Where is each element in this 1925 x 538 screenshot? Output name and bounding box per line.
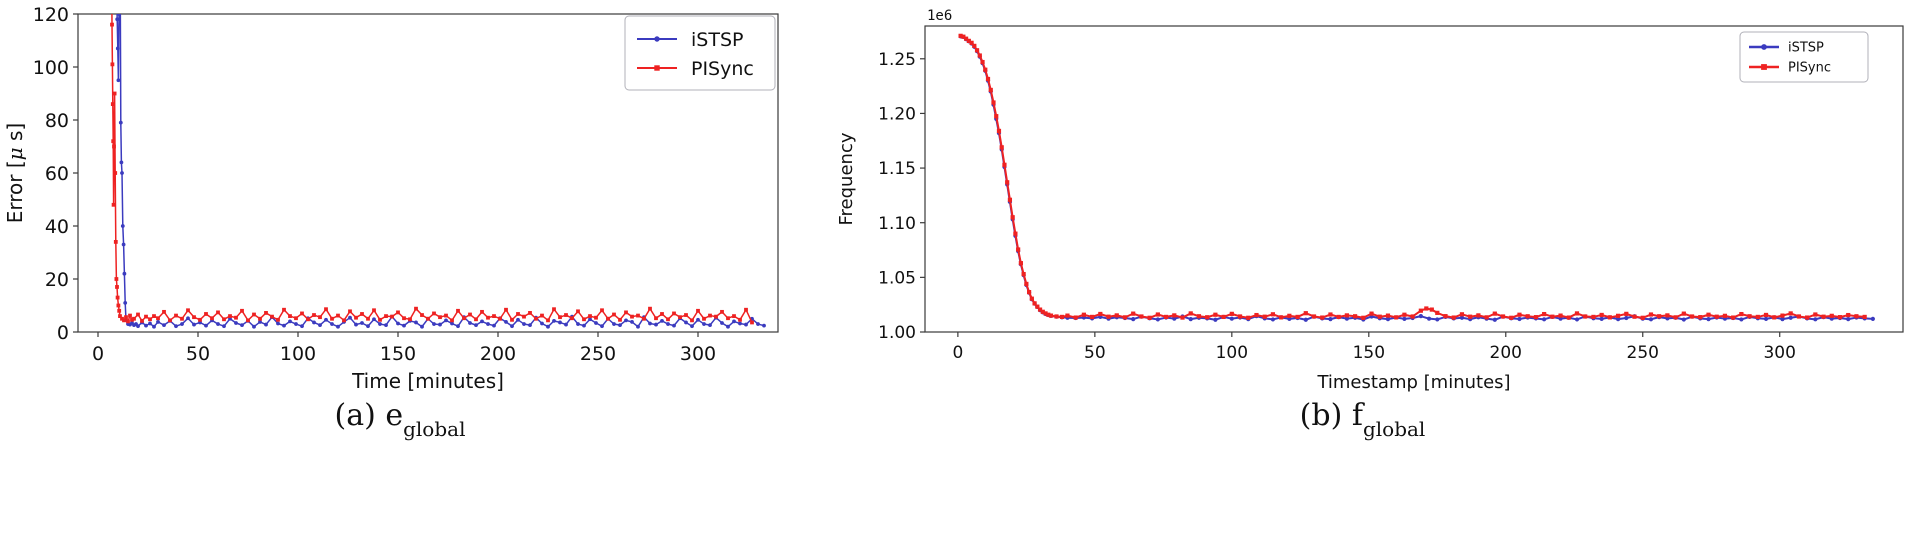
data-point xyxy=(1863,315,1867,319)
data-point xyxy=(1723,314,1727,318)
data-point xyxy=(1394,315,1398,319)
data-point xyxy=(140,319,144,323)
legend-marker-circle-icon xyxy=(654,36,659,41)
data-point xyxy=(396,322,400,326)
data-point xyxy=(1430,308,1434,312)
data-point xyxy=(216,322,220,326)
data-point xyxy=(378,318,382,322)
data-point xyxy=(588,314,592,318)
data-point xyxy=(1106,315,1110,319)
data-point xyxy=(119,121,123,125)
data-point xyxy=(522,322,526,326)
data-point xyxy=(1706,317,1710,321)
data-point xyxy=(648,322,652,326)
figure-caption-b: (b) fglobal xyxy=(800,398,1925,437)
data-point xyxy=(696,318,700,322)
data-point xyxy=(624,318,628,322)
data-point xyxy=(1156,317,1160,321)
data-point xyxy=(1172,313,1176,317)
data-point xyxy=(270,315,274,319)
data-point xyxy=(1731,315,1735,319)
data-point xyxy=(354,316,358,320)
data-point xyxy=(1205,315,1209,319)
figure-caption-a: (a) eglobal xyxy=(0,398,800,437)
data-point xyxy=(222,324,226,328)
data-point xyxy=(1813,312,1817,316)
data-point xyxy=(336,314,340,318)
data-point xyxy=(570,316,574,320)
data-point xyxy=(156,316,160,320)
data-point xyxy=(360,321,364,325)
data-point xyxy=(420,325,424,329)
data-point xyxy=(462,316,466,320)
data-point xyxy=(1747,314,1751,318)
data-point xyxy=(654,316,658,320)
data-point xyxy=(1312,314,1316,318)
data-point xyxy=(546,325,550,329)
data-point xyxy=(1534,315,1538,319)
data-point xyxy=(504,308,508,312)
data-point xyxy=(1600,317,1604,321)
chart-legend[interactable]: iSTSPPISync xyxy=(625,16,775,90)
data-point xyxy=(132,317,136,321)
data-point xyxy=(148,317,152,321)
data-point xyxy=(360,312,364,316)
x-axis-label: Timestamp [minutes] xyxy=(1316,372,1510,393)
caption-b-variable: f xyxy=(1352,398,1363,433)
data-point xyxy=(576,309,580,313)
data-point xyxy=(474,317,478,321)
data-point xyxy=(972,44,976,48)
data-point xyxy=(288,320,292,324)
data-point xyxy=(660,312,664,316)
data-point xyxy=(117,12,121,16)
data-point xyxy=(552,307,556,311)
data-point xyxy=(408,317,412,321)
data-point xyxy=(576,322,580,326)
data-point xyxy=(1772,315,1776,319)
data-point xyxy=(204,312,208,316)
data-point xyxy=(276,318,280,322)
data-point xyxy=(684,321,688,325)
data-point xyxy=(1271,312,1275,316)
data-point xyxy=(240,309,244,313)
data-point xyxy=(744,323,748,327)
data-point xyxy=(666,322,670,326)
data-point xyxy=(1060,315,1064,319)
data-point xyxy=(282,308,286,312)
data-point xyxy=(1287,314,1291,318)
data-point xyxy=(1649,312,1653,316)
data-point xyxy=(1230,317,1234,321)
x-tick-label: 250 xyxy=(1627,343,1659,363)
data-point xyxy=(1542,317,1546,321)
data-point xyxy=(696,309,700,313)
data-point xyxy=(402,324,406,328)
data-point xyxy=(384,314,388,318)
data-point xyxy=(1222,315,1226,319)
legend-label-istsp[interactable]: iSTSP xyxy=(1788,41,1824,56)
data-point xyxy=(396,310,400,314)
data-point xyxy=(1674,315,1678,319)
data-point xyxy=(1022,272,1026,276)
data-point xyxy=(111,102,115,106)
data-point xyxy=(432,322,436,326)
data-point xyxy=(582,324,586,328)
data-point xyxy=(1011,215,1015,219)
data-point xyxy=(1706,313,1710,317)
data-point xyxy=(1123,315,1127,319)
data-point xyxy=(486,316,490,320)
data-point xyxy=(516,312,520,316)
x-axis-label: Time [minutes] xyxy=(351,369,504,393)
data-point xyxy=(642,317,646,321)
data-point xyxy=(1682,317,1686,321)
data-point xyxy=(1345,313,1349,317)
y-tick-label: 120 xyxy=(33,4,69,26)
caption-a-index: (a) xyxy=(335,398,376,433)
legend-marker-square-icon xyxy=(1761,64,1767,70)
data-point xyxy=(324,307,328,311)
data-point xyxy=(113,171,117,175)
data-point xyxy=(510,318,514,322)
data-point xyxy=(1000,145,1004,149)
data-point xyxy=(522,315,526,319)
x-tick-label: 100 xyxy=(280,343,316,365)
data-point xyxy=(312,321,316,325)
data-point xyxy=(1846,317,1850,321)
data-point xyxy=(1271,317,1275,321)
data-point xyxy=(234,316,238,320)
data-point xyxy=(174,324,178,328)
data-point xyxy=(426,317,430,321)
data-point xyxy=(110,23,114,27)
data-point xyxy=(324,318,328,322)
data-point xyxy=(1005,180,1009,184)
data-point xyxy=(1600,313,1604,317)
data-point xyxy=(1517,317,1521,321)
data-point xyxy=(1756,315,1760,319)
data-point xyxy=(1082,313,1086,317)
data-point xyxy=(354,323,358,327)
data-point xyxy=(372,308,376,312)
data-point xyxy=(1402,313,1406,317)
x-tick-label: 0 xyxy=(92,343,104,365)
data-point xyxy=(558,321,562,325)
data-point xyxy=(336,325,340,329)
data-point xyxy=(1764,317,1768,321)
data-point xyxy=(1098,312,1102,316)
data-point xyxy=(1739,312,1743,316)
legend-label-pisync[interactable]: PISync xyxy=(691,58,754,80)
data-point xyxy=(300,312,304,316)
data-point xyxy=(1263,315,1267,319)
caption-a-subscript: global xyxy=(403,417,465,441)
data-point xyxy=(264,311,268,315)
data-point xyxy=(1419,314,1423,318)
data-point xyxy=(552,319,556,323)
data-point xyxy=(612,322,616,326)
data-point xyxy=(312,313,316,317)
data-point xyxy=(1019,261,1023,265)
data-point xyxy=(120,171,124,175)
data-point xyxy=(330,322,334,326)
data-point xyxy=(756,0,760,4)
y-tick-label: 20 xyxy=(45,269,69,291)
data-point xyxy=(186,308,190,312)
data-point xyxy=(1813,317,1817,321)
data-point xyxy=(192,323,196,327)
data-point xyxy=(1246,316,1250,320)
data-point xyxy=(1871,317,1875,321)
data-point xyxy=(1131,317,1135,321)
data-point xyxy=(726,316,730,320)
data-point xyxy=(123,272,127,276)
data-point xyxy=(1682,312,1686,316)
data-point xyxy=(117,309,121,313)
data-point xyxy=(162,323,166,327)
data-point xyxy=(492,324,496,328)
chart-legend[interactable]: iSTSPPISync xyxy=(1740,32,1868,82)
data-point xyxy=(120,161,124,165)
data-point xyxy=(348,316,352,320)
data-point xyxy=(1402,317,1406,321)
data-point xyxy=(414,307,418,311)
data-point xyxy=(1739,317,1743,321)
data-point xyxy=(1493,318,1497,322)
data-point xyxy=(1509,316,1513,320)
data-point xyxy=(558,315,562,319)
data-point xyxy=(708,314,712,318)
data-point xyxy=(252,313,256,317)
data-point xyxy=(492,314,496,318)
data-point xyxy=(318,315,322,319)
data-point xyxy=(738,322,742,326)
data-point xyxy=(228,314,232,318)
data-point xyxy=(318,323,322,327)
data-point xyxy=(342,318,346,322)
data-point xyxy=(528,311,532,315)
data-point xyxy=(186,316,190,320)
data-point xyxy=(684,313,688,317)
data-point xyxy=(1238,314,1242,318)
data-point xyxy=(148,322,152,326)
data-point xyxy=(144,324,148,328)
data-point xyxy=(994,114,998,118)
data-point xyxy=(618,318,622,322)
y-tick-label: 100 xyxy=(33,57,69,79)
data-point xyxy=(1002,163,1006,167)
data-point xyxy=(1156,312,1160,316)
data-point xyxy=(1131,312,1135,316)
data-point xyxy=(144,315,148,319)
data-point xyxy=(1780,314,1784,318)
data-point xyxy=(1443,314,1447,318)
x-tick-label: 150 xyxy=(380,343,416,365)
data-point xyxy=(117,304,121,308)
y-axis-label: Frequency xyxy=(836,132,857,225)
data-point xyxy=(438,315,442,319)
data-point xyxy=(1090,315,1094,319)
legend-label-istsp[interactable]: iSTSP xyxy=(691,29,743,51)
data-point xyxy=(975,48,979,52)
data-point xyxy=(1789,316,1793,320)
x-tick-label: 150 xyxy=(1353,343,1385,363)
data-point xyxy=(123,301,127,305)
data-point xyxy=(1027,290,1031,294)
data-point xyxy=(1320,315,1324,319)
data-point xyxy=(1139,314,1143,318)
data-point xyxy=(115,285,119,289)
data-point xyxy=(330,317,334,321)
data-point xyxy=(1008,198,1012,202)
data-point xyxy=(174,314,178,318)
data-point xyxy=(510,324,514,328)
data-point xyxy=(1591,315,1595,319)
data-point xyxy=(113,92,117,96)
data-point xyxy=(630,320,634,324)
data-point xyxy=(690,318,694,322)
data-point xyxy=(1049,314,1053,318)
data-point xyxy=(612,313,616,317)
data-point xyxy=(762,324,766,328)
f-global-plot: 0501001502002503001.001.051.101.151.201.… xyxy=(800,0,1925,400)
y-tick-label: 1.00 xyxy=(878,323,916,343)
data-point xyxy=(300,324,304,328)
figure-container: 050100150200250300020406080100120Time [m… xyxy=(0,0,1925,538)
data-point xyxy=(606,317,610,321)
data-point xyxy=(468,313,472,317)
data-point xyxy=(1624,316,1628,320)
data-point xyxy=(252,325,256,329)
data-point xyxy=(720,321,724,325)
data-point xyxy=(1424,306,1428,310)
data-point xyxy=(111,62,115,66)
data-point xyxy=(204,324,208,328)
data-point xyxy=(528,323,532,327)
data-point xyxy=(122,243,126,247)
data-point xyxy=(726,325,730,329)
data-point xyxy=(124,315,128,319)
y-tick-label: 40 xyxy=(45,216,69,238)
data-point xyxy=(762,0,766,4)
data-point xyxy=(1715,315,1719,319)
data-point xyxy=(294,316,298,320)
data-point xyxy=(1641,316,1645,320)
data-point xyxy=(1517,313,1521,317)
data-point xyxy=(991,100,995,104)
data-point xyxy=(564,313,568,317)
data-point xyxy=(384,323,388,327)
data-point xyxy=(1608,315,1612,319)
data-point xyxy=(636,325,640,329)
data-point xyxy=(1764,313,1768,317)
data-point xyxy=(222,317,226,321)
data-point xyxy=(498,317,502,321)
data-point xyxy=(180,322,184,326)
data-point xyxy=(1476,313,1480,317)
data-point xyxy=(690,324,694,328)
data-point xyxy=(1805,315,1809,319)
data-point xyxy=(117,78,121,82)
data-point xyxy=(1558,314,1562,318)
data-point xyxy=(1378,315,1382,319)
data-point xyxy=(1526,314,1530,318)
data-point xyxy=(114,240,118,244)
x-tick-label: 300 xyxy=(1763,343,1795,363)
data-point xyxy=(1542,312,1546,316)
data-point xyxy=(306,317,310,321)
data-point xyxy=(126,320,130,324)
data-point xyxy=(216,310,220,314)
data-point xyxy=(678,315,682,319)
data-point xyxy=(152,314,156,318)
data-point xyxy=(116,47,120,51)
data-point xyxy=(630,315,634,319)
data-point xyxy=(672,312,676,316)
data-point xyxy=(1115,313,1119,317)
data-point xyxy=(546,318,550,322)
e-global-plot: 050100150200250300020406080100120Time [m… xyxy=(0,0,800,400)
y-tick-label: 0 xyxy=(57,322,69,344)
data-point xyxy=(540,322,544,326)
data-point xyxy=(714,315,718,319)
data-point xyxy=(618,323,622,327)
data-point xyxy=(732,320,736,324)
data-point xyxy=(540,314,544,318)
data-point xyxy=(1838,315,1842,319)
data-point xyxy=(112,203,116,207)
x-tick-label: 100 xyxy=(1216,343,1248,363)
y-tick-label: 60 xyxy=(45,163,69,185)
data-point xyxy=(111,139,115,143)
data-point xyxy=(1435,317,1439,321)
data-point xyxy=(402,316,406,320)
data-point xyxy=(474,323,478,327)
data-point xyxy=(702,317,706,321)
data-point xyxy=(744,308,748,312)
data-point xyxy=(456,309,460,313)
data-point xyxy=(1148,316,1152,320)
y-axis-label: Error [μ s] xyxy=(3,123,27,224)
data-point xyxy=(378,322,382,326)
data-point xyxy=(1189,317,1193,321)
data-point xyxy=(582,317,586,321)
legend-label-pisync[interactable]: PISync xyxy=(1788,61,1831,76)
data-point xyxy=(1054,314,1058,318)
data-point xyxy=(168,318,172,322)
data-point xyxy=(414,321,418,325)
chart-panel-e-global: 050100150200250300020406080100120Time [m… xyxy=(0,0,800,538)
data-point xyxy=(390,315,394,319)
data-point xyxy=(702,322,706,326)
data-point xyxy=(1230,312,1234,316)
x-tick-label: 0 xyxy=(952,343,963,363)
data-point xyxy=(1821,315,1825,319)
data-point xyxy=(516,318,520,322)
data-point xyxy=(121,224,125,228)
data-point xyxy=(600,308,604,312)
y-tick-label: 1.25 xyxy=(878,50,916,70)
data-point xyxy=(624,310,628,314)
data-point xyxy=(708,323,712,327)
y-tick-label: 1.10 xyxy=(878,214,916,234)
data-point xyxy=(1024,282,1028,286)
data-point xyxy=(1254,313,1258,317)
data-point xyxy=(112,145,116,149)
data-point xyxy=(136,313,140,317)
data-point xyxy=(1197,314,1201,318)
